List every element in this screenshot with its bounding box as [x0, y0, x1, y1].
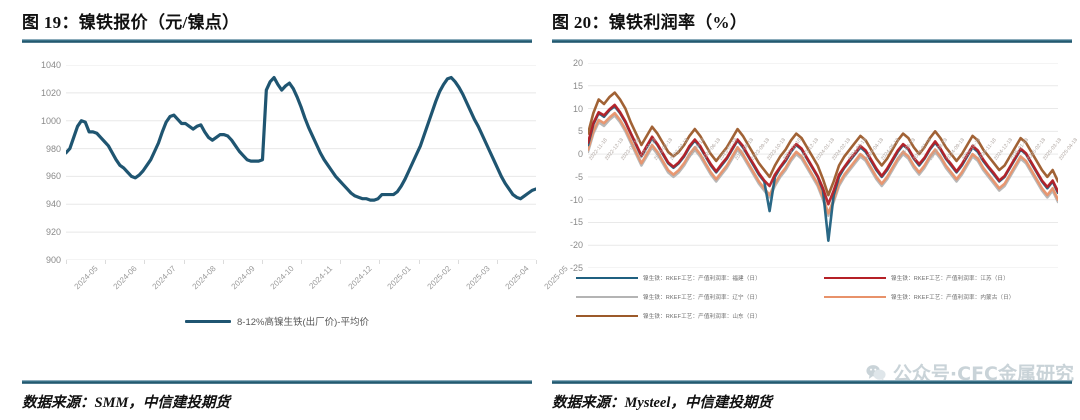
figure-19-x-tickmark [458, 260, 459, 264]
figure-20-y-tick: -10 [570, 195, 583, 205]
legend-swatch [185, 320, 231, 323]
figure-19-x-tickmark [223, 260, 224, 264]
figure-20-x-tick: 2025-04-18 [1058, 137, 1079, 162]
figure-19-x-tickmark [66, 260, 67, 264]
figure-19-line-svg [66, 65, 536, 260]
figure-19-y-tick: 1020 [41, 88, 61, 98]
figure-20-y-tick: -5 [575, 172, 583, 182]
figure-19-x-tickmark [536, 260, 537, 264]
figure-20-y-tick: -15 [570, 217, 583, 227]
figure-19-x-tickmark [184, 260, 185, 264]
figure-20-lines-svg [588, 63, 1058, 268]
figure-20-footer: 数据来源：Mysteel，中信建投期货 [552, 380, 1072, 412]
figure-19-x-tickmark [340, 260, 341, 264]
figure-19-x-axis: 2024-052024-062024-072024-082024-092024-… [66, 260, 532, 306]
legend-item: 镍生铁：RKEF工艺：产值利润率：福建（日） [576, 274, 824, 282]
legend-label: 镍生铁：RKEF工艺：产值利润率：福建（日） [643, 274, 761, 282]
legend-item: 镍生铁：RKEF工艺：产值利润率：辽宁（日） [576, 293, 824, 301]
legend-swatch [576, 277, 638, 279]
figure-19-footer: 数据来源：SMM，中信建投期货 [22, 380, 532, 412]
legend-label: 镍生铁：RKEF工艺：产值利润率：山东（日） [643, 312, 761, 320]
figure-19-x-tick: 2024-08 [190, 264, 217, 291]
legend-swatch [576, 296, 638, 298]
figure-19-x-tick: 2024-07 [151, 264, 178, 291]
title-divider-left [22, 39, 532, 43]
report-page: 图 19：镍铁报价（元/镍点） 900920940960980100010201… [0, 0, 1080, 420]
figure-19-title: 图 19：镍铁报价（元/镍点） [22, 0, 532, 33]
figure-20-y-tick: 0 [578, 149, 583, 159]
figure-19-y-tick: 920 [46, 227, 61, 237]
figure-19-x-tickmark [105, 260, 106, 264]
figure-20-legend: 镍生铁：RKEF工艺：产值利润率：福建（日）镍生铁：RKEF工艺：产值利润率：江… [552, 274, 1072, 320]
figure-20-panel: 图 20：镍铁利润率（%） 2022-11-182022-12-182023-0… [540, 0, 1080, 420]
figure-20-y-tick: 20 [573, 58, 583, 68]
figure-19-y-tick: 940 [46, 199, 61, 209]
legend-swatch [576, 315, 638, 317]
figure-19-y-tick: 1000 [41, 116, 61, 126]
figure-19-x-tickmark [497, 260, 498, 264]
figure-19-x-tick: 2025-04 [503, 264, 530, 291]
figure-19-x-tick: 2024-06 [112, 264, 139, 291]
figure-20-y-tick: 15 [573, 81, 583, 91]
figure-20-y-tick: -25 [570, 263, 583, 273]
figure-19-y-tick: 1040 [41, 60, 61, 70]
figure-19-x-tickmark [379, 260, 380, 264]
figure-19-x-tick: 2025-01 [386, 264, 413, 291]
legend-swatch [824, 277, 886, 279]
figure-19-x-tick: 2024-05 [73, 264, 100, 291]
figure-19-x-tickmark [301, 260, 302, 264]
legend-swatch [824, 296, 886, 298]
figure-19-chart: 900920940960980100010201040 2024-052024-… [22, 65, 532, 306]
legend-label: 8-12%高镍生铁(出厂价)-平均价 [237, 314, 369, 328]
figure-20-y-tick: 10 [573, 104, 583, 114]
legend-label: 镍生铁：RKEF工艺：产值利润率：江苏（日） [891, 274, 1009, 282]
wechat-icon [866, 364, 886, 381]
figure-20-y-tick: -20 [570, 240, 583, 250]
figure-19-x-tickmark [144, 260, 145, 264]
figure-19-x-tick: 2025-03 [464, 264, 491, 291]
figure-19-x-tickmark [419, 260, 420, 264]
figure-19-x-tickmark [262, 260, 263, 264]
figure-19-y-tick: 980 [46, 144, 61, 154]
legend-label: 镍生铁：RKEF工艺：产值利润率：内蒙古（日） [891, 293, 1015, 301]
figure-20-title: 图 20：镍铁利润率（%） [552, 0, 1072, 33]
figure-19-source: 数据来源：SMM，中信建投期货 [22, 384, 532, 412]
legend-item: 镍生铁：RKEF工艺：产值利润率：山东（日） [576, 312, 824, 320]
figure-19-x-tick: 2024-11 [307, 264, 334, 291]
figure-19-y-tick: 960 [46, 171, 61, 181]
legend-label: 镍生铁：RKEF工艺：产值利润率：辽宁（日） [643, 293, 761, 301]
legend-item: 镍生铁：RKEF工艺：产值利润率：江苏（日） [824, 274, 1072, 282]
figure-20-source: 数据来源：Mysteel，中信建投期货 [552, 384, 1072, 412]
figure-19-legend: 8-12%高镍生铁(出厂价)-平均价 [22, 314, 532, 328]
legend-item: 镍生铁：RKEF工艺：产值利润率：内蒙古（日） [824, 293, 1072, 301]
figure-19-panel: 图 19：镍铁报价（元/镍点） 900920940960980100010201… [0, 0, 540, 420]
figure-19-y-tick: 900 [46, 255, 61, 265]
figure-19-x-tick: 2024-12 [347, 264, 374, 291]
figure-20-y-tick: 5 [578, 126, 583, 136]
title-divider-right [552, 39, 1072, 43]
figure-19-x-tick: 2025-02 [425, 264, 452, 291]
figure-19-x-tick: 2024-09 [229, 264, 256, 291]
figure-19-x-tick: 2024-10 [268, 264, 295, 291]
figure-20-chart: 2022-11-182022-12-182023-01-182023-02-18… [552, 63, 1072, 268]
